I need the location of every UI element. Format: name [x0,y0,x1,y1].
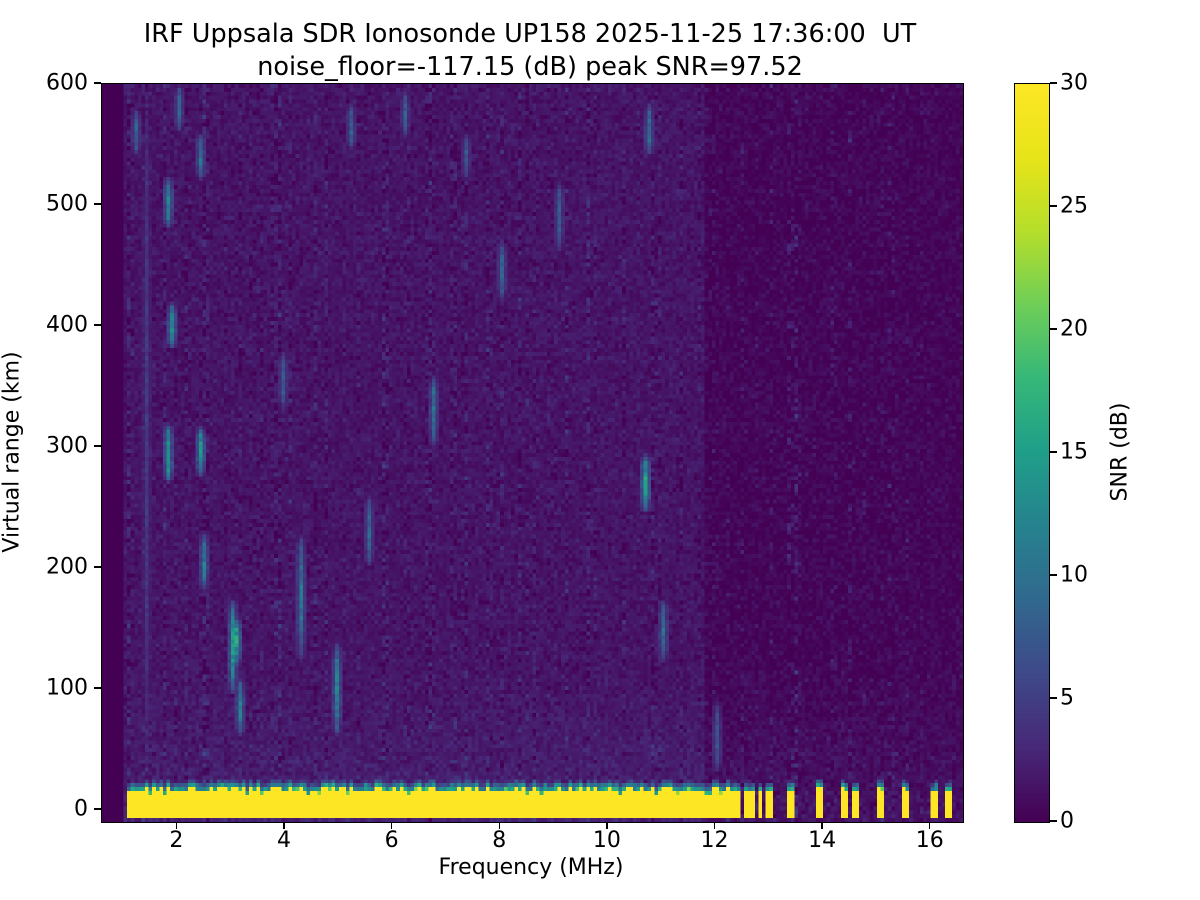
y-tick-label: 200 [0,554,88,579]
x-tick-label: 2 [169,828,183,853]
colorbar-tick-label: 20 [1060,317,1088,342]
x-axis-label: Frequency (MHz) [439,855,624,880]
x-tick-label: 8 [492,828,506,853]
colorbar-tick-label: 5 [1060,686,1074,711]
figure-title: IRF Uppsala SDR Ionosonde UP158 2025-11-… [0,18,1060,84]
y-axis-label: Virtual range (km) [0,351,25,552]
y-tick-mark [94,566,101,567]
y-tick-label: 0 [0,796,88,821]
colorbar-tick-mark [1050,451,1057,452]
title-line-1: IRF Uppsala SDR Ionosonde UP158 2025-11-… [0,18,1060,51]
ionogram-heatmap[interactable] [102,84,963,822]
colorbar-tick-mark [1050,697,1057,698]
x-tick-label: 14 [808,828,836,853]
colorbar-tick-label: 0 [1060,809,1074,834]
y-tick-label: 100 [0,675,88,700]
y-tick-label: 600 [0,71,88,96]
colorbar-tick-label: 15 [1060,440,1088,465]
y-tick-mark [94,808,101,809]
colorbar-tick-label: 25 [1060,194,1088,219]
colorbar-tick-mark [1050,82,1057,83]
colorbar[interactable] [1014,83,1050,823]
x-tick-label: 12 [700,828,728,853]
x-tick-label: 4 [277,828,291,853]
y-tick-mark [94,203,101,204]
colorbar-label: SNR (dB) [1108,403,1133,502]
x-tick-label: 16 [916,828,944,853]
y-tick-label: 500 [0,191,88,216]
colorbar-tick-mark [1050,328,1057,329]
x-tick-label: 10 [593,828,621,853]
ionogram-figure: IRF Uppsala SDR Ionosonde UP158 2025-11-… [0,0,1200,900]
x-tick-label: 6 [385,828,399,853]
colorbar-gradient [1015,84,1049,822]
y-tick-mark [94,82,101,83]
colorbar-tick-label: 30 [1060,71,1088,96]
colorbar-tick-label: 10 [1060,563,1088,588]
colorbar-tick-mark [1050,574,1057,575]
colorbar-tick-mark [1050,205,1057,206]
title-line-2: noise_floor=-117.15 (dB) peak SNR=97.52 [0,51,1060,84]
colorbar-tick-mark [1050,820,1057,821]
y-tick-mark [94,324,101,325]
y-tick-mark [94,445,101,446]
ionogram-plot-area[interactable] [101,83,964,823]
y-tick-mark [94,687,101,688]
y-tick-label: 400 [0,312,88,337]
